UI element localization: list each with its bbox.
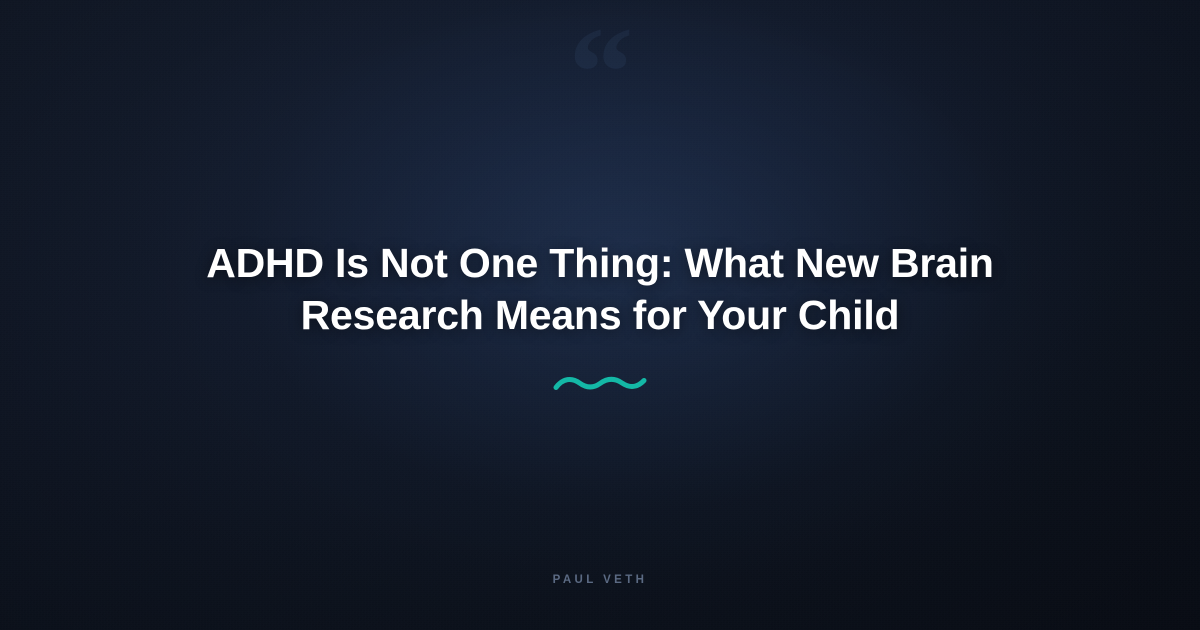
card-content: ADHD Is Not One Thing: What New Brain Re… xyxy=(0,0,1200,630)
og-share-card: “ ADHD Is Not One Thing: What New Brain … xyxy=(0,0,1200,630)
author-byline: PAUL VETH xyxy=(0,574,1200,586)
squiggle-divider-icon xyxy=(553,373,647,393)
page-title: ADHD Is Not One Thing: What New Brain Re… xyxy=(200,237,1000,342)
